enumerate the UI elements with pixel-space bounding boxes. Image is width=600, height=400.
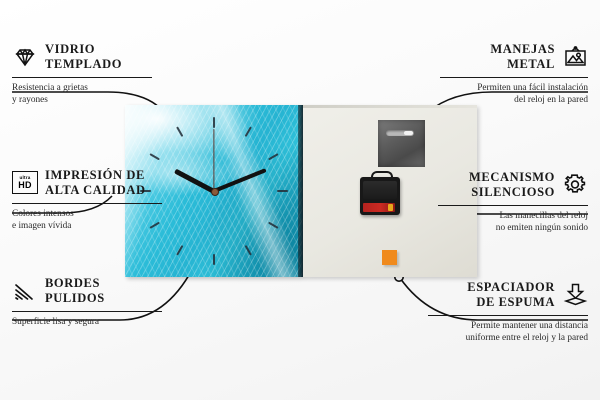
hanger-keyhole-slot — [386, 130, 414, 136]
gear-icon — [562, 173, 588, 197]
callout-rule — [12, 311, 162, 312]
callout-title-line1: MANEJAS — [490, 42, 555, 56]
battery — [363, 203, 395, 212]
callout-subtitle-line1: Permiten una fácil instalación — [477, 83, 588, 93]
hour-marker — [268, 153, 279, 160]
callout-title-line1: IMPRESIÓN DE — [45, 168, 145, 182]
hour-marker — [245, 126, 252, 137]
callout-subtitle-line2: del reloj en la pared — [514, 95, 588, 105]
callout-subtitle-line2: e imagen vívida — [12, 221, 71, 231]
polished-edges-icon — [12, 279, 38, 303]
hour-marker — [149, 153, 160, 160]
product-image — [125, 105, 477, 277]
callout-rule — [440, 77, 588, 78]
callout-subtitle-line1: Las manecillas del reloj — [499, 211, 588, 221]
minute-hand — [213, 168, 266, 193]
callout-rule — [12, 203, 162, 204]
callout-title-line2: ALTA CALIDAD — [45, 183, 146, 197]
callout-bordes-pulidos: BORDES PULIDOS Superficie lisa y segura — [12, 276, 162, 328]
callout-espaciador-espuma: ESPACIADOR DE ESPUMA Permite mantener un… — [428, 280, 588, 345]
callout-title-line1: VIDRIO — [45, 42, 95, 56]
hour-marker — [176, 245, 183, 256]
mechanism-body — [363, 181, 397, 199]
callout-title-line2: SILENCIOSO — [471, 185, 555, 199]
callout-vidrio-templado: VIDRIO TEMPLADO Resistencia a grietas y … — [12, 42, 152, 107]
callout-title-line1: ESPACIADOR — [467, 280, 555, 294]
hour-marker — [245, 245, 252, 256]
callout-subtitle-line1: Colores intensos — [12, 209, 74, 219]
picture-frame-hanger-icon — [562, 45, 588, 69]
diamond-icon — [12, 45, 38, 69]
callout-manejas-metal: MANEJAS METAL Permiten una fácil instala… — [440, 42, 588, 107]
callout-title-line2: DE ESPUMA — [476, 295, 555, 309]
ultra-hd-icon-main-text: HD — [18, 181, 31, 190]
hour-marker — [176, 126, 183, 137]
callout-subtitle-line1: Resistencia a grietas — [12, 83, 88, 93]
callout-subtitle-line2: uniforme entre el reloj y la pared — [466, 333, 588, 343]
second-hand — [213, 129, 214, 191]
callout-title-line1: BORDES — [45, 276, 100, 290]
hour-marker — [213, 254, 215, 265]
callout-subtitle-line2: y rayones — [12, 95, 48, 105]
infographic-stage: VIDRIO TEMPLADO Resistencia a grietas y … — [0, 0, 600, 400]
callout-title-line1: MECANISMO — [469, 170, 555, 184]
callout-rule — [12, 77, 152, 78]
callout-rule — [438, 205, 588, 206]
hour-marker — [268, 222, 279, 229]
clock-mechanism — [360, 177, 400, 215]
callout-rule — [428, 315, 588, 316]
hour-hand — [174, 168, 215, 193]
callout-mecanismo-silencioso: MECANISMO SILENCIOSO Las manecillas del … — [438, 170, 588, 235]
callout-title-line2: METAL — [507, 57, 555, 71]
mechanism-loop — [371, 171, 393, 181]
hour-marker — [277, 190, 288, 192]
callout-subtitle-line1: Permite mantener una distancia — [471, 321, 588, 331]
hour-marker — [213, 117, 215, 128]
callout-subtitle-line1: Superficie lisa y segura — [12, 317, 99, 327]
callout-impresion-alta-calidad: ultra HD IMPRESIÓN DE ALTA CALIDAD Color… — [12, 168, 162, 233]
callout-subtitle-line2: no emiten ningún sonido — [496, 223, 588, 233]
down-arrow-spacer-icon — [562, 283, 588, 307]
hand-pin — [211, 188, 219, 196]
callout-title-line2: PULIDOS — [45, 291, 105, 305]
ultra-hd-icon: ultra HD — [12, 171, 38, 195]
foam-spacer — [382, 250, 397, 265]
callout-title-line2: TEMPLADO — [45, 57, 122, 71]
metal-hanger-plate — [378, 120, 425, 167]
